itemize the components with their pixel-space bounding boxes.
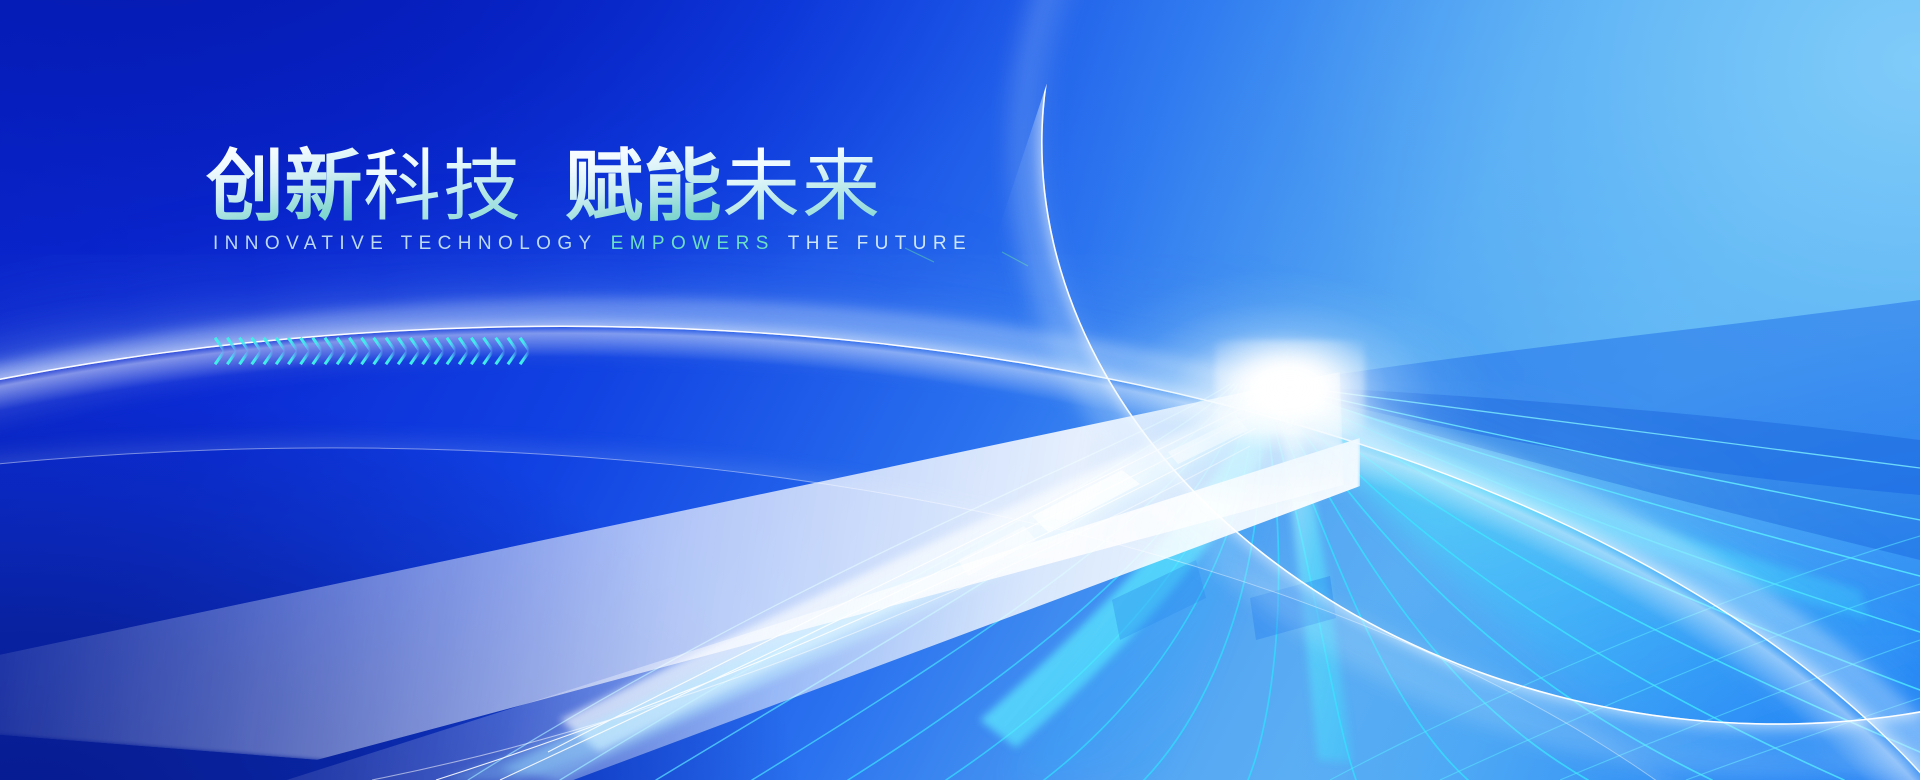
chevron-icon bbox=[362, 339, 371, 363]
chevron-icon bbox=[301, 339, 310, 363]
subtitle-part-one: INNOVATIVE TECHNOLOGY bbox=[213, 233, 598, 254]
page-subtitle: INNOVATIVE TECHNOLOGYEMPOWERSTHE FUTURE bbox=[213, 234, 972, 253]
chevron-icon bbox=[240, 339, 249, 363]
banner-content: 创新科技赋能未来 INNOVATIVE TECHNOLOGYEMPOWERSTH… bbox=[0, 0, 1920, 780]
chevron-icon bbox=[338, 339, 347, 363]
headline-segment-3: 赋能 bbox=[565, 142, 722, 230]
chevron-icon bbox=[472, 339, 481, 363]
chevron-icon bbox=[411, 339, 420, 363]
subtitle-part-two: EMPOWERS bbox=[611, 233, 775, 254]
headline-segment-1: 创新 bbox=[206, 142, 363, 230]
headline-segment-2: 科技 bbox=[363, 142, 523, 230]
chevron-icon bbox=[387, 339, 396, 363]
headline-segment-4: 未来 bbox=[722, 142, 882, 230]
chevron-icon bbox=[423, 339, 432, 363]
chevron-arrow-strip bbox=[214, 334, 544, 368]
chevron-icon bbox=[228, 339, 237, 363]
chevron-icon bbox=[460, 339, 469, 363]
chevron-icon bbox=[265, 339, 274, 363]
chevron-icon bbox=[509, 339, 518, 363]
chevron-icon bbox=[484, 339, 493, 363]
chevron-icon bbox=[216, 339, 225, 363]
subtitle-part-three: THE FUTURE bbox=[788, 233, 972, 254]
chevron-icon bbox=[277, 339, 286, 363]
chevron-icon bbox=[326, 339, 335, 363]
chevron-icon bbox=[350, 339, 359, 363]
chevron-icon bbox=[314, 339, 323, 363]
chevron-icon bbox=[289, 339, 298, 363]
chevron-icon bbox=[521, 339, 530, 363]
chevron-icon bbox=[375, 339, 384, 363]
chevron-icon bbox=[448, 339, 457, 363]
banner-stage: 创新科技赋能未来 INNOVATIVE TECHNOLOGYEMPOWERSTH… bbox=[0, 0, 1920, 780]
page-title: 创新科技赋能未来 bbox=[206, 147, 882, 225]
chevron-icon bbox=[253, 339, 262, 363]
chevron-icon bbox=[497, 339, 506, 363]
chevron-icon bbox=[399, 339, 408, 363]
chevron-icon bbox=[436, 339, 445, 363]
